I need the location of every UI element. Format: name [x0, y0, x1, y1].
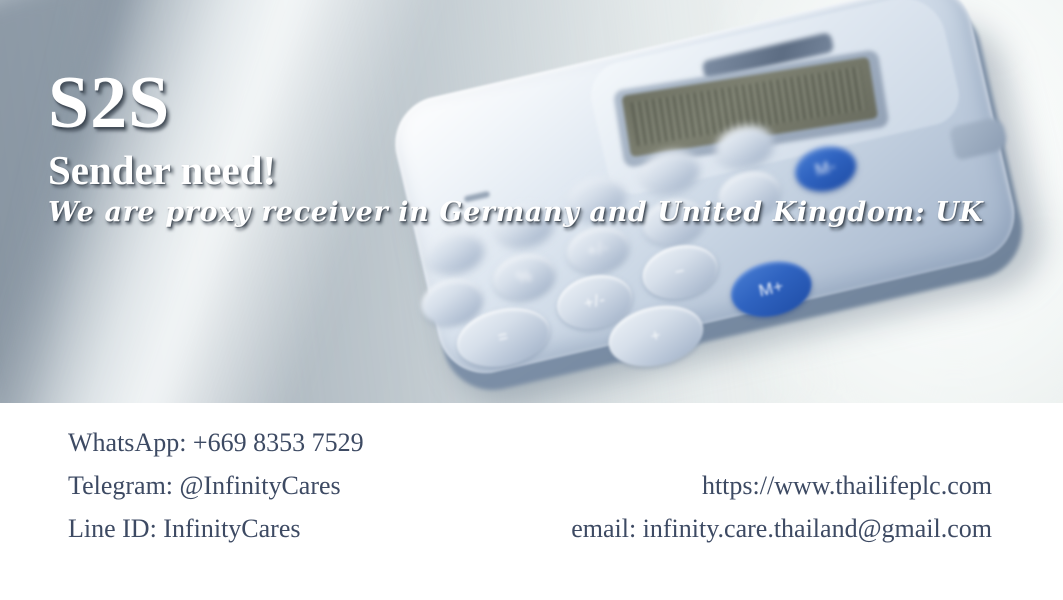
contact-line-id[interactable]: Line ID: InfinityCares [68, 507, 364, 550]
contact-email[interactable]: email: infinity.care.thailand@gmail.com [571, 507, 992, 550]
contact-website[interactable]: https://www.thailifeplc.com [571, 464, 992, 507]
headline-block: S2S Sender need! We are proxy receiver i… [48, 64, 1008, 230]
headline-subtitle: Sender need! [48, 146, 1008, 194]
brand-title: S2S [48, 64, 1008, 142]
headline-tagline: We are proxy receiver in Germany and Uni… [48, 196, 1008, 230]
contact-column-left: WhatsApp: +669 8353 7529 Telegram: @Infi… [68, 421, 364, 550]
business-card-banner: % +/- M- = +/- − + M+ [0, 0, 1063, 600]
contact-whatsapp[interactable]: WhatsApp: +669 8353 7529 [68, 421, 364, 464]
contact-telegram[interactable]: Telegram: @InfinityCares [68, 464, 364, 507]
calculator-photo: % +/- M- = +/- − + M+ [0, 0, 1063, 403]
contact-column-right: https://www.thailifeplc.com email: infin… [571, 464, 992, 550]
contact-footer: WhatsApp: +669 8353 7529 Telegram: @Infi… [0, 403, 1063, 600]
